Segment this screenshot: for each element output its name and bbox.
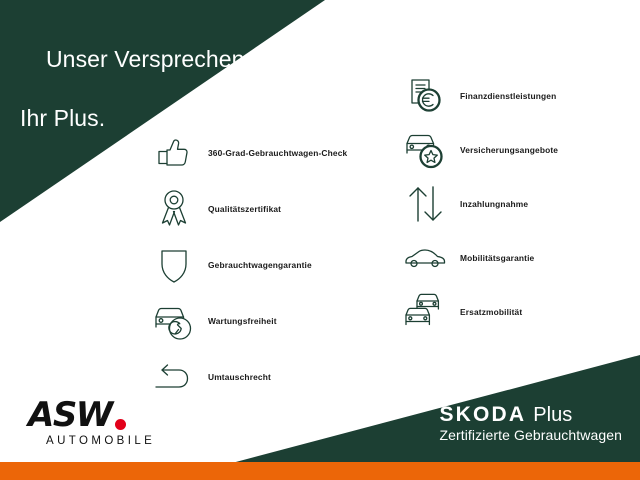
skoda-wordmark: ŠKODA: [439, 404, 526, 425]
two-cars-icon: [400, 289, 452, 335]
award-rosette-icon: [148, 186, 200, 232]
skoda-plus-word: Plus: [533, 405, 572, 425]
feature-item: Inzahlungnahme: [400, 178, 640, 230]
feature-label: 360-Grad-Gebrauchtwagen-Check: [208, 148, 347, 158]
feature-label: Umtauschrecht: [208, 372, 271, 382]
feature-item: Ersatzmobilität: [400, 286, 640, 338]
asw-logo: ASW AUTOMOBILE: [28, 398, 168, 447]
thumbs-up-icon: [148, 130, 200, 176]
car-side-icon: [400, 235, 452, 281]
feature-item: Qualitätszertifikat: [148, 182, 378, 236]
feature-list-left: 360-Grad-Gebrauchtwagen-Check Qualitätsz…: [148, 126, 378, 406]
skoda-plus-logo: ŠKODA Plus Zertifizierte Gebrauchtwagen: [439, 404, 622, 443]
shield-icon: [148, 242, 200, 288]
document-euro-icon: [400, 73, 452, 119]
feature-label: Gebrauchtwagengarantie: [208, 260, 312, 270]
feature-label: Mobilitätsgarantie: [460, 253, 534, 263]
feature-label: Ersatzmobilität: [460, 307, 522, 317]
asw-red-dot-icon: [115, 419, 126, 430]
feature-label: Finanzdienstleistungen: [460, 91, 556, 101]
feature-label: Qualitätszertifikat: [208, 204, 281, 214]
asw-subtitle: AUTOMOBILE: [46, 435, 168, 447]
return-arrow-icon: [148, 354, 200, 400]
feature-item: Umtauschrecht: [148, 350, 378, 404]
feature-item: Versicherungsangebote: [400, 124, 640, 176]
feature-label: Inzahlungnahme: [460, 199, 528, 209]
up-down-arrows-icon: [400, 181, 452, 227]
car-star-icon: [400, 127, 452, 173]
car-wrench-icon: [148, 298, 200, 344]
headline-line-1: Unser Versprechen.: [46, 46, 251, 72]
asw-wordmark: ASW: [28, 398, 168, 432]
skoda-subtitle: Zertifizierte Gebrauchtwagen: [439, 427, 622, 443]
orange-bottom-stripe: [0, 462, 640, 480]
feature-list-right: Finanzdienstleistungen Versicherungsange…: [400, 70, 640, 340]
feature-item: Finanzdienstleistungen: [400, 70, 640, 122]
skoda-wordmark-row: ŠKODA Plus: [439, 404, 622, 425]
asw-wordmark-text: ASW: [28, 398, 112, 432]
feature-item: Gebrauchtwagengarantie: [148, 238, 378, 292]
feature-label: Wartungsfreiheit: [208, 316, 277, 326]
feature-item: Mobilitätsgarantie: [400, 232, 640, 284]
feature-label: Versicherungsangebote: [460, 145, 558, 155]
feature-item: 360-Grad-Gebrauchtwagen-Check: [148, 126, 378, 180]
feature-item: Wartungsfreiheit: [148, 294, 378, 348]
promo-banner: Unser Versprechen. Ihr Plus. 360-Grad-Ge…: [0, 0, 640, 480]
